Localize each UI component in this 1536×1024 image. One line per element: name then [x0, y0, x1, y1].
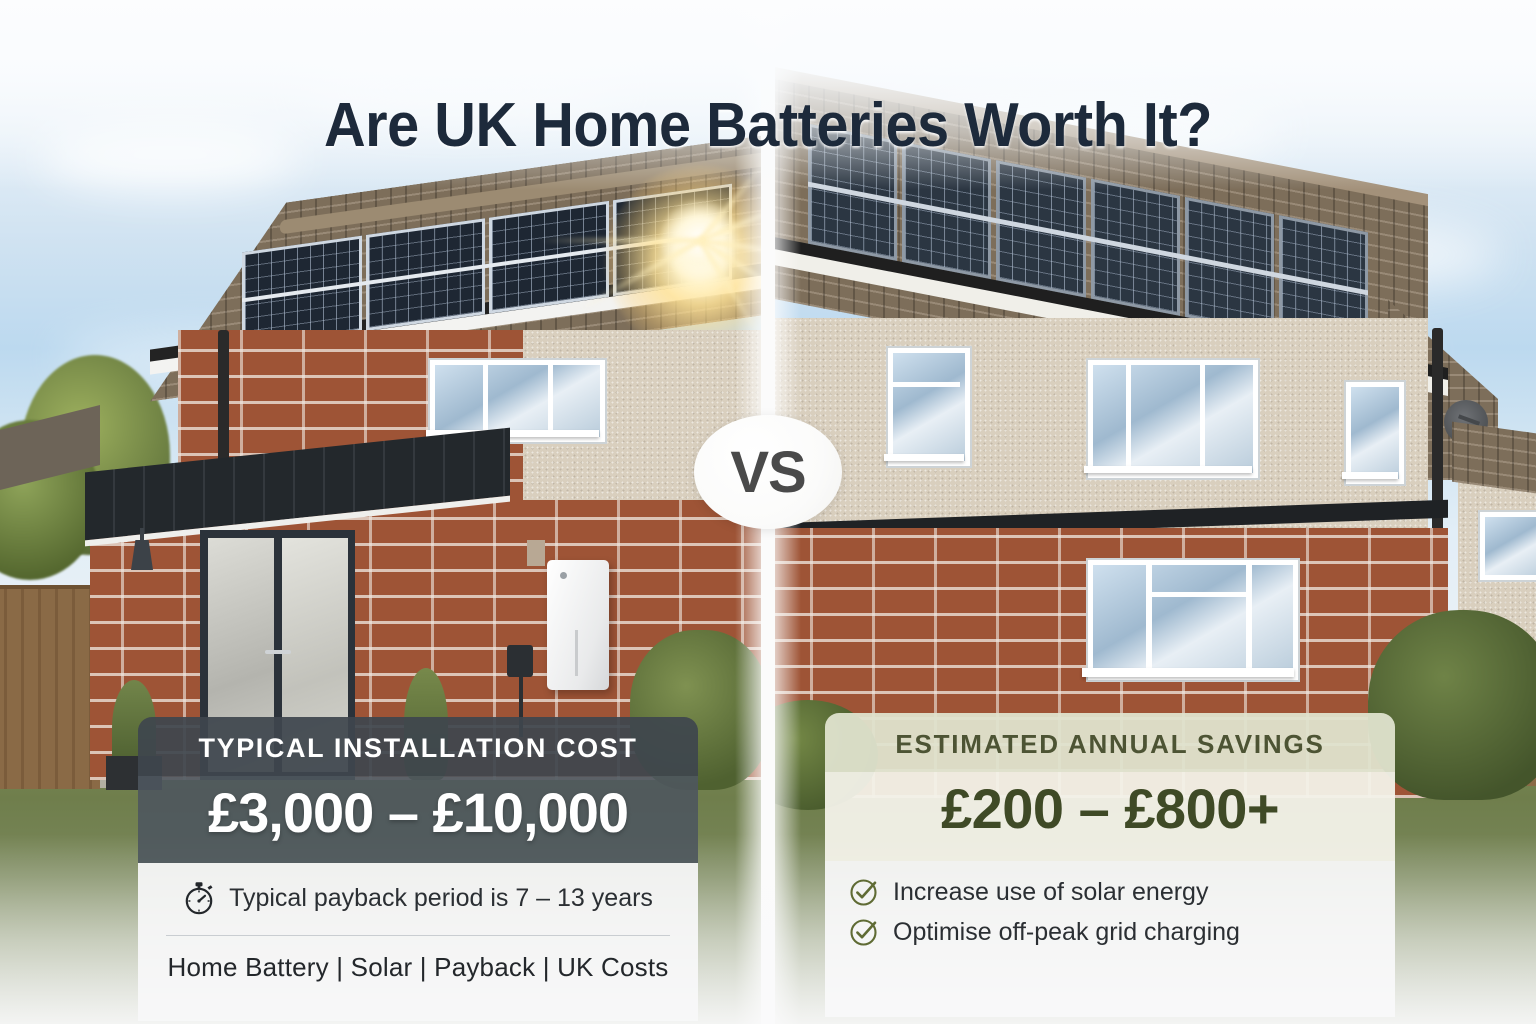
upper-window-centre: [1088, 360, 1258, 478]
benefit-text: Optimise off-peak grid charging: [893, 918, 1240, 947]
window-sill: [1084, 466, 1252, 473]
upper-window-right: [1346, 382, 1404, 484]
door-handle: [265, 650, 291, 654]
window-transom: [888, 382, 960, 387]
window-sill: [884, 454, 964, 461]
installation-cost-value: £3,000 – £10,000: [138, 776, 698, 863]
topic-tags: Home Battery | Solar | Payback | UK Cost…: [160, 952, 676, 983]
garden-fence: [0, 585, 100, 789]
annual-savings-body: Increase use of solar energy Optimise of…: [825, 861, 1395, 1017]
payback-note-row: Typical payback period is 7 – 13 years: [160, 881, 676, 915]
upper-window-left: [888, 348, 970, 466]
window-mullion: [548, 360, 553, 432]
home-battery-unit: [547, 560, 609, 690]
annual-savings-card: ESTIMATED ANNUAL SAVINGS £200 – £800+ In…: [825, 713, 1395, 1024]
lower-bay-window: [1088, 560, 1298, 680]
annual-savings-value: £200 – £800+: [825, 772, 1395, 861]
annual-savings-header: ESTIMATED ANNUAL SAVINGS: [825, 713, 1395, 772]
infographic-canvas: Are UK Home Batteries Worth It? VS TYPIC…: [0, 0, 1536, 1024]
window-sill: [1082, 668, 1294, 677]
window-mullion: [1146, 560, 1152, 670]
benefit-text: Increase use of solar energy: [893, 878, 1208, 907]
battery-isolator-box: [507, 645, 533, 677]
page-title: Are UK Home Batteries Worth It?: [54, 90, 1482, 161]
check-circle-icon: [849, 877, 879, 907]
installation-cost-header: TYPICAL INSTALLATION COST: [138, 717, 698, 776]
window-mullion: [1126, 360, 1131, 468]
battery-indicator: [560, 572, 567, 579]
light-bracket: [140, 528, 144, 542]
versus-badge: VS: [694, 415, 842, 529]
installation-cost-body: Typical payback period is 7 – 13 years H…: [138, 863, 698, 1021]
benefit-list-item: Increase use of solar energy: [849, 877, 1371, 907]
benefit-list-item: Optimise off-peak grid charging: [849, 917, 1371, 947]
sun-ray: [540, 238, 700, 243]
window-mullion: [483, 360, 488, 432]
window-transom: [1146, 592, 1252, 597]
installation-cost-card: TYPICAL INSTALLATION COST £3,000 – £10,0…: [138, 717, 698, 1024]
window-mullion: [1246, 560, 1252, 670]
window-sill: [1342, 472, 1398, 479]
wall-vent: [527, 540, 545, 566]
neighbour-window: [1480, 512, 1536, 580]
payback-note-text: Typical payback period is 7 – 13 years: [229, 884, 653, 913]
battery-seam: [575, 630, 578, 676]
card-divider-rule: [166, 935, 670, 936]
window-mullion: [1200, 360, 1205, 468]
versus-label: VS: [730, 439, 805, 506]
stopwatch-icon: [183, 881, 215, 915]
check-circle-icon: [849, 917, 879, 947]
